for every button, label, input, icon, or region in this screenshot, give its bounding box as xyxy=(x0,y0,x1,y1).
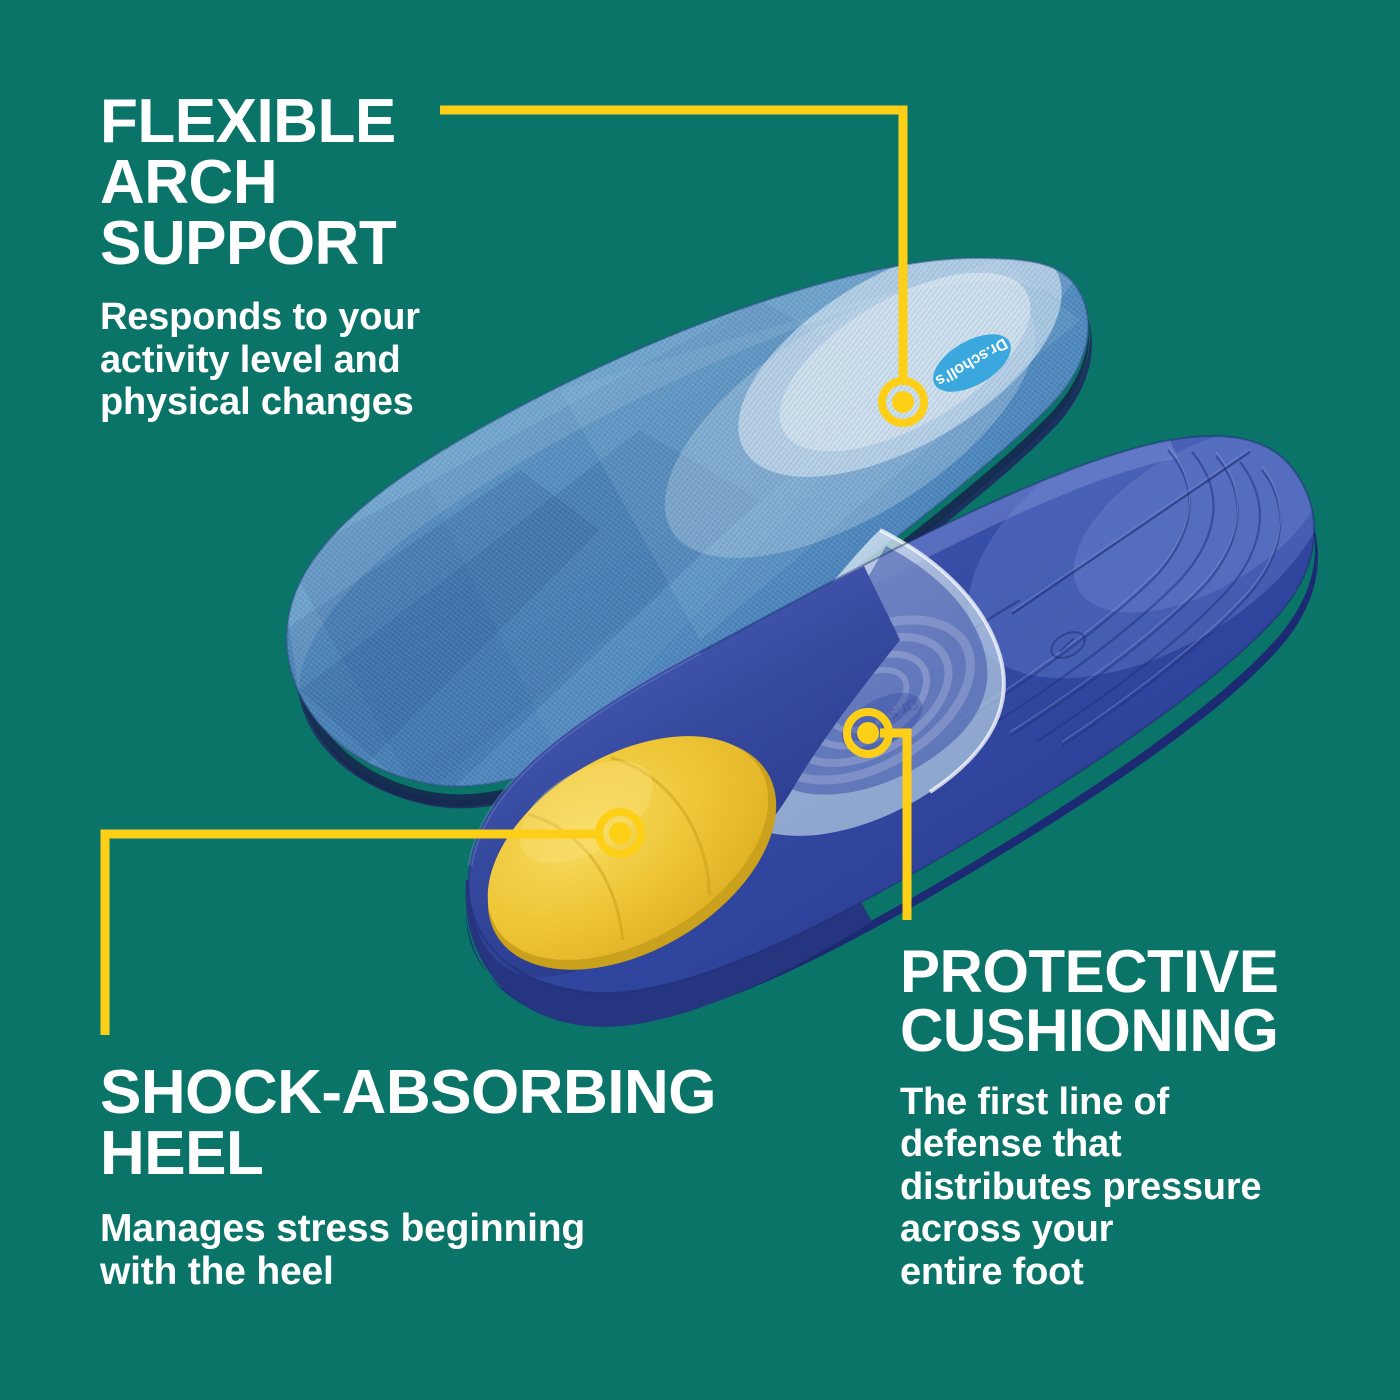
feature-block-shock-absorbing-heel: SHOCK-ABSORBING HEEL Manages stress begi… xyxy=(100,1063,820,1294)
callout-line-cushioning xyxy=(880,733,907,920)
callout-line-heel xyxy=(105,834,600,1035)
feature-description-protective-cushioning: The first line of defense that distribut… xyxy=(900,1081,1360,1294)
callout-marker-arch xyxy=(882,381,924,423)
feature-description-flexible-arch-support: Responds to your activity level and phys… xyxy=(100,296,570,424)
callout-marker-heel xyxy=(599,812,641,854)
feature-description-shock-absorbing-heel: Manages stress beginning with the heel xyxy=(100,1207,820,1294)
feature-headline-flexible-arch-support: FLEXIBLE ARCH SUPPORT xyxy=(100,92,570,274)
feature-block-protective-cushioning: PROTECTIVE CUSHIONING The first line of … xyxy=(900,943,1360,1293)
infographic-canvas: Dr.scholl's xyxy=(0,0,1400,1400)
feature-headline-shock-absorbing-heel: SHOCK-ABSORBING HEEL xyxy=(100,1063,820,1185)
feature-headline-protective-cushioning: PROTECTIVE CUSHIONING xyxy=(900,943,1360,1061)
feature-block-flexible-arch-support: FLEXIBLE ARCH SUPPORT Responds to your a… xyxy=(100,92,570,424)
